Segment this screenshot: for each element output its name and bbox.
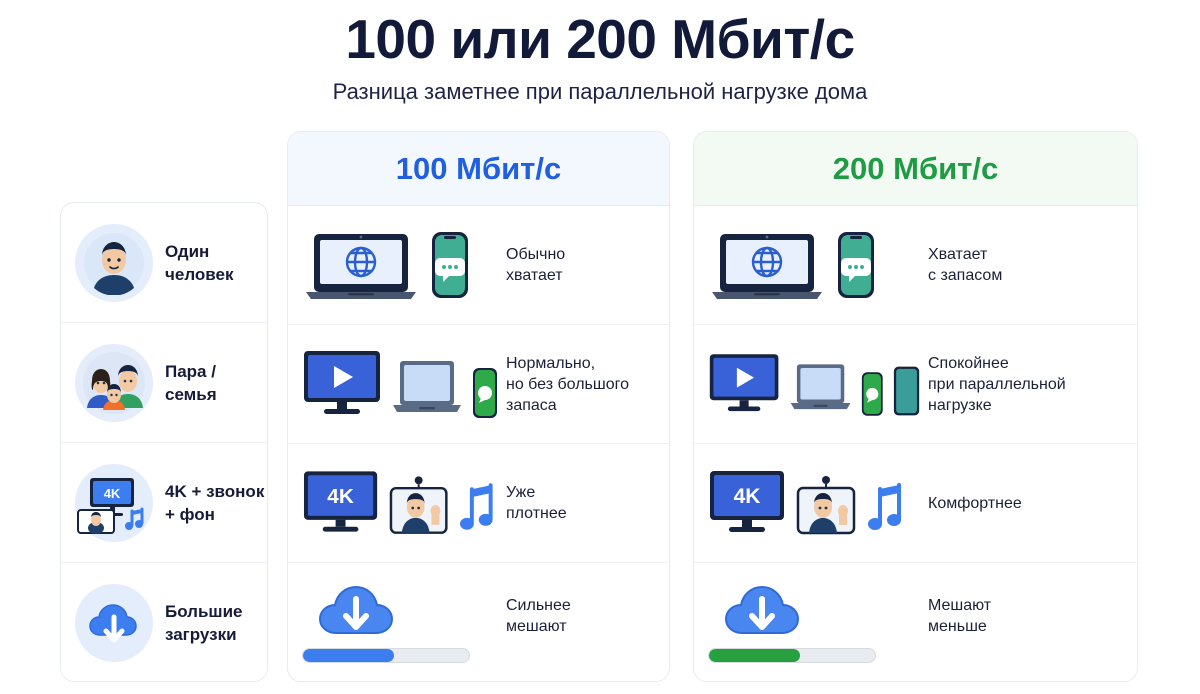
tv-play-icon: [302, 349, 382, 419]
cell-100-family: Нормально, но без большого запаса: [288, 325, 669, 444]
scenario-label-line1: Большие: [165, 600, 243, 623]
cell-text-line1: Нормально,: [506, 353, 655, 374]
family-avatar-icon: [75, 344, 153, 422]
scenario-label: 4K + звонок + фон: [165, 480, 264, 526]
cell-text: Спокойнее при параллельной нагрузке: [928, 353, 1118, 416]
page-title: 100 или 200 Мбит/с: [0, 8, 1200, 70]
device-group: [708, 228, 920, 302]
progress-bar-track: [708, 648, 876, 663]
page-subtitle: Разница заметнее при параллельной нагруз…: [0, 78, 1200, 106]
laptop-icon: [391, 359, 463, 419]
laptop-globe-icon: [302, 228, 420, 302]
tv-play-icon: [708, 349, 780, 419]
cell-200-downloads: Мешают меньше: [694, 563, 1137, 682]
cell-text: Сильнее мешают: [506, 595, 655, 637]
scenario-label-line1: Пара /: [165, 360, 217, 383]
laptop-globe-icon: [708, 228, 826, 302]
cell-text-line2: с запасом: [928, 265, 1118, 286]
cell-200-4k-call: 4K: [694, 444, 1137, 563]
device-group: 4K: [302, 469, 498, 537]
plan-header-100: 100 Мбит/с: [288, 132, 669, 206]
cloud-download-icon: [720, 583, 804, 639]
progress-bar-fill: [709, 649, 800, 662]
cell-text: Мешают меньше: [928, 595, 1118, 637]
music-note-icon: [866, 479, 906, 537]
cell-text-line1: Обычно: [506, 244, 655, 265]
phone-chat-icon: [429, 228, 471, 302]
scenario-row-4k-call: 4K 4K + звонок + ф: [61, 443, 267, 563]
single-person-avatar-icon: [75, 224, 153, 302]
infographic-page: 100 или 200 Мбит/с Разница заметнее при …: [0, 0, 1200, 694]
device-group: [302, 349, 498, 419]
cell-text-line1: Уже: [506, 482, 655, 503]
tv-4k-icon: 4K: [708, 469, 786, 537]
cell-text-line1: Мешают: [928, 595, 1118, 616]
scenario-label: Пара / семья: [165, 360, 217, 406]
cell-text-line2: мешают: [506, 616, 655, 637]
cell-text-line1: Хватает: [928, 244, 1118, 265]
cell-text: Обычно хватает: [506, 244, 655, 286]
tablet-teal-icon: [893, 363, 920, 419]
cell-text-line1: Сильнее: [506, 595, 655, 616]
scenario-label-line2: семья: [165, 383, 217, 406]
scenario-label: Большие загрузки: [165, 600, 243, 646]
device-group: 4K: [708, 469, 920, 537]
cell-100-4k-call: 4K: [288, 444, 669, 563]
cell-text: Нормально, но без большого запаса: [506, 353, 655, 416]
cell-text-line1: Комфортнее: [928, 493, 1118, 514]
plan-column-200: 200 Мбит/с: [693, 131, 1138, 682]
scenario-row-single-person: Один человек: [61, 203, 267, 323]
cell-text: Хватает с запасом: [928, 244, 1118, 286]
cell-text-line2: при параллельной: [928, 374, 1118, 395]
scenario-label-line1: 4K + звонок: [165, 480, 264, 503]
cell-100-single-person: Обычно хватает: [288, 206, 669, 325]
device-group: [708, 349, 920, 419]
device-group: [302, 583, 498, 663]
cell-text-line1: Спокойнее: [928, 353, 1118, 374]
cell-text-line2: меньше: [928, 616, 1118, 637]
scenario-row-large-downloads: Большие загрузки: [61, 563, 267, 683]
plan-header-200: 200 Мбит/с: [694, 132, 1137, 206]
cell-200-single-person: Хватает с запасом: [694, 206, 1137, 325]
laptop-icon: [789, 359, 852, 419]
svg-text:4K: 4K: [104, 486, 121, 501]
cell-text-line3: нагрузке: [928, 395, 1118, 416]
cell-text-line2: но без большого: [506, 374, 655, 395]
cell-text-line3: запаса: [506, 395, 655, 416]
device-group: [708, 583, 920, 663]
device-group: [302, 228, 498, 302]
download-block: [708, 583, 876, 663]
cell-200-family: Спокойнее при параллельной нагрузке: [694, 325, 1137, 444]
cell-text-line2: хватает: [506, 265, 655, 286]
scenario-list-card: Один человек: [60, 202, 268, 682]
svg-text:4K: 4K: [327, 485, 354, 508]
scenario-label-line2: человек: [165, 263, 233, 286]
phone-green-icon: [861, 369, 884, 419]
scenario-row-family: Пара / семья: [61, 323, 267, 443]
plan-column-100: 100 Мбит/с: [287, 131, 670, 682]
cell-text: Комфортнее: [928, 493, 1118, 514]
download-block: [302, 583, 470, 663]
4k-call-music-icon: 4K: [75, 464, 153, 542]
cell-text-line2: плотнее: [506, 503, 655, 524]
scenario-label-line2: + фон: [165, 503, 264, 526]
progress-bar-track: [302, 648, 470, 663]
video-call-icon: [795, 475, 857, 537]
cloud-download-icon: [314, 583, 398, 639]
tv-4k-icon: 4K: [302, 469, 379, 537]
svg-text:4K: 4K: [734, 485, 761, 508]
phone-chat-icon: [835, 228, 877, 302]
cell-100-downloads: Сильнее мешают: [288, 563, 669, 682]
cell-text: Уже плотнее: [506, 482, 655, 524]
music-note-icon: [458, 479, 498, 537]
cloud-download-icon: [75, 584, 153, 662]
scenario-label: Один человек: [165, 240, 233, 286]
scenario-label-line2: загрузки: [165, 623, 243, 646]
progress-bar-fill: [303, 649, 394, 662]
scenario-label-line1: Один: [165, 240, 233, 263]
video-call-icon: [388, 475, 449, 537]
phone-green-icon: [472, 367, 498, 419]
